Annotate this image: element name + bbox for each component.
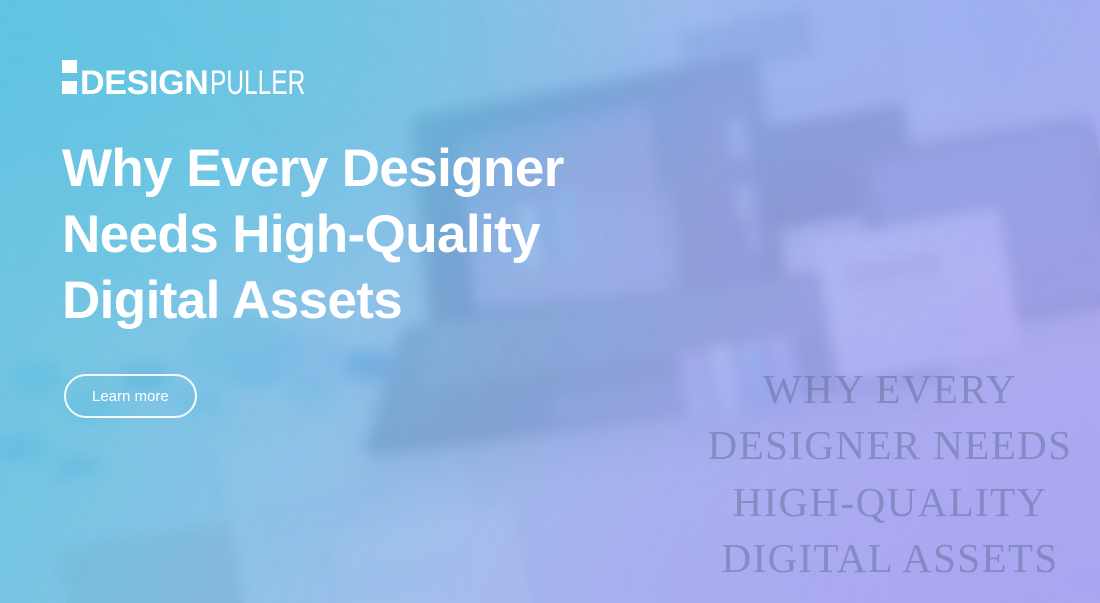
headline-line-2: Needs High-Quality	[62, 202, 622, 268]
logo-bold-text: DESIGN	[80, 66, 209, 100]
watermark-text: Why Every Designer Needs High-Quality Di…	[690, 361, 1090, 587]
watermark-line-4: Digital Assets	[690, 530, 1090, 587]
hero-banner: Why Every Designer Needs High-Quality Di…	[0, 0, 1100, 603]
learn-more-button[interactable]: Learn more	[64, 374, 197, 418]
watermark-line-3: High-Quality	[690, 474, 1090, 531]
brand-logo[interactable]: DESIGN PULLER	[62, 60, 342, 100]
headline-line-1: Why Every Designer	[62, 136, 622, 202]
page-title: Why Every Designer Needs High-Quality Di…	[62, 136, 622, 334]
hero-content: DESIGN PULLER Why Every Designer Needs H…	[62, 0, 662, 603]
headline-line-3: Digital Assets	[62, 268, 622, 334]
watermark-line-2: Designer Needs	[690, 417, 1090, 474]
watermark-line-1: Why Every	[690, 361, 1090, 418]
notched-d-mark-icon	[62, 60, 77, 94]
logo-light-text: PULLER	[210, 66, 305, 100]
